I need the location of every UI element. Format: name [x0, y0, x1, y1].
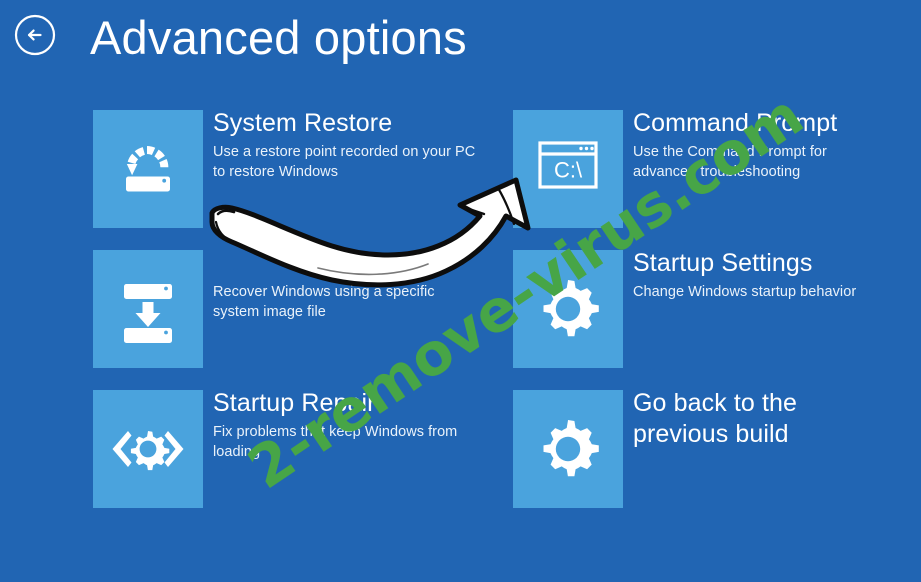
option-system-image-recovery[interactable]: Recover Windows using a specific system …: [93, 250, 493, 368]
header: Advanced options: [0, 0, 921, 90]
svg-text:C:\: C:\: [554, 158, 583, 183]
option-description: Use a restore point recorded on your PC …: [213, 142, 483, 182]
startup-repair-icon: [106, 412, 190, 486]
options-grid: System Restore Use a restore point recor…: [93, 110, 883, 530]
option-title: Startup Settings: [633, 248, 883, 279]
back-arrow-circle-icon: [14, 14, 56, 56]
system-restore-icon: [111, 132, 185, 206]
option-command-prompt[interactable]: C:\ Command Prompt Use the Command Promp…: [513, 110, 883, 228]
option-description: Use the Command Prompt for advanced trou…: [633, 142, 883, 182]
option-startup-repair[interactable]: Startup Repair Fix problems that keep Wi…: [93, 390, 493, 508]
options-row: Recover Windows using a specific system …: [93, 250, 883, 390]
option-description: Fix problems that keep Windows from load…: [213, 422, 483, 462]
system-image-recovery-icon: [111, 272, 185, 346]
option-title: Go back to the previous build: [633, 388, 883, 450]
option-description: Change Windows startup behavior: [633, 282, 883, 302]
go-back-previous-build-tile[interactable]: [513, 390, 623, 508]
startup-settings-tile[interactable]: [513, 250, 623, 368]
option-text: Startup Repair Fix problems that keep Wi…: [213, 388, 483, 462]
options-row: System Restore Use a restore point recor…: [93, 110, 883, 250]
option-text: Recover Windows using a specific system …: [213, 248, 483, 322]
command-prompt-tile[interactable]: C:\: [513, 110, 623, 228]
option-text: Startup Settings Change Windows startup …: [633, 248, 883, 302]
option-text: System Restore Use a restore point recor…: [213, 108, 483, 182]
gear-icon: [531, 412, 605, 486]
system-restore-tile[interactable]: [93, 110, 203, 228]
option-system-restore[interactable]: System Restore Use a restore point recor…: [93, 110, 493, 228]
option-description: Recover Windows using a specific system …: [213, 282, 483, 322]
startup-repair-tile[interactable]: [93, 390, 203, 508]
back-button[interactable]: [14, 14, 56, 56]
command-prompt-icon: C:\: [531, 134, 605, 204]
option-title: Startup Repair: [213, 388, 483, 419]
option-text: Command Prompt Use the Command Prompt fo…: [633, 108, 883, 182]
page-title: Advanced options: [90, 5, 467, 71]
options-row: Startup Repair Fix problems that keep Wi…: [93, 390, 883, 530]
option-title: System Restore: [213, 108, 483, 139]
system-image-recovery-tile[interactable]: [93, 250, 203, 368]
option-title: Command Prompt: [633, 108, 883, 139]
option-go-back-previous-build[interactable]: Go back to the previous build: [513, 390, 883, 508]
option-startup-settings[interactable]: Startup Settings Change Windows startup …: [513, 250, 883, 368]
option-text: Go back to the previous build: [633, 388, 883, 453]
gear-icon: [531, 272, 605, 346]
advanced-options-screen: Advanced options: [0, 0, 921, 582]
